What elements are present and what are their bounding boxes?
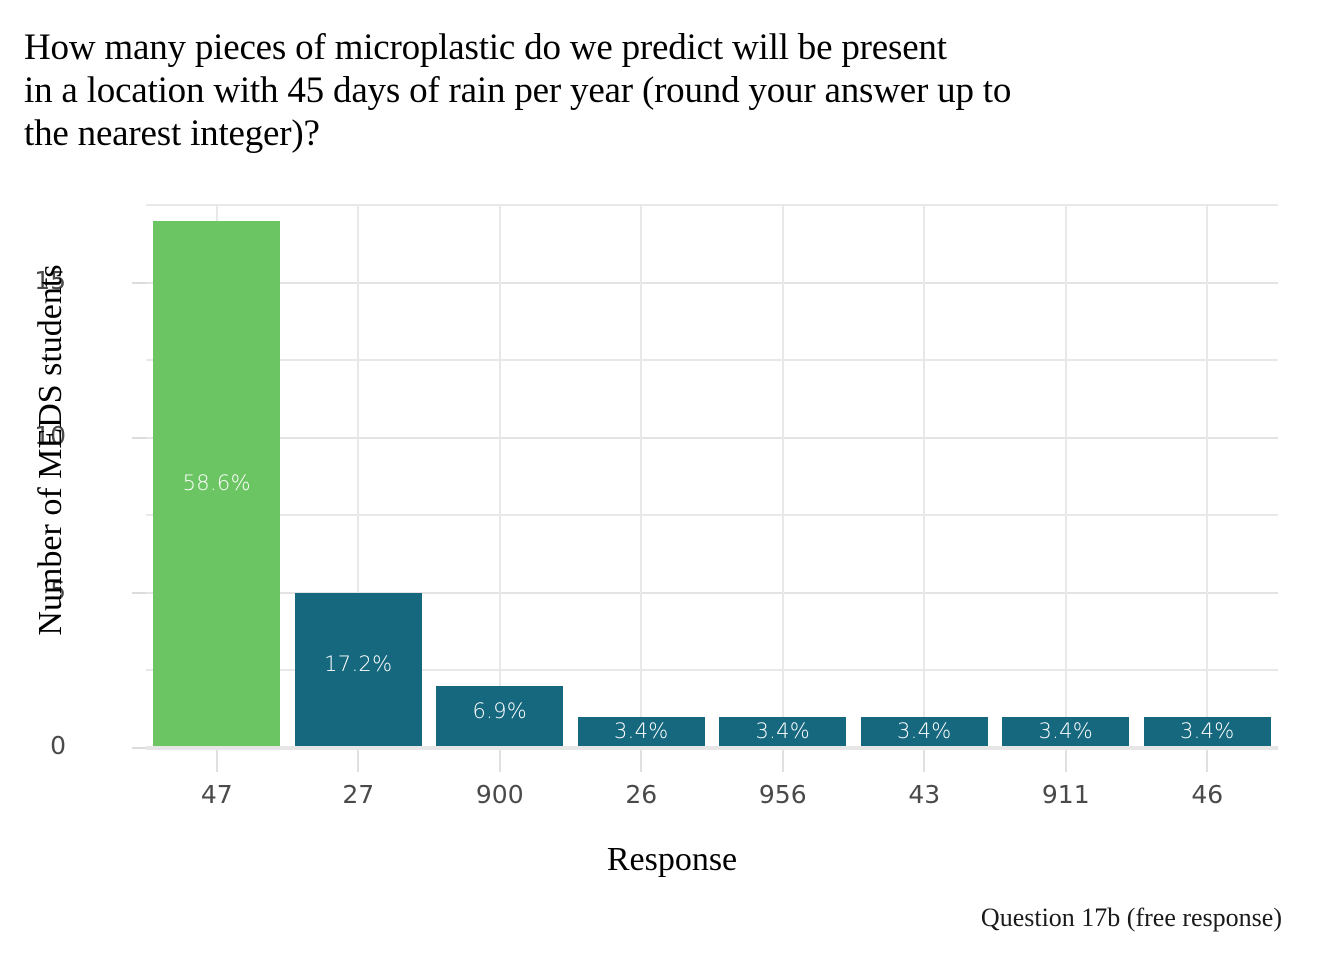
- bar[interactable]: 58.6%: [153, 221, 280, 748]
- y-axis-tick-mark: [132, 592, 146, 594]
- bar-value-label: 6.9%: [436, 699, 563, 723]
- gridline-horizontal: [146, 204, 1278, 206]
- plot-area: 58.6%17.2%6.9%3.4%3.4%3.4%3.4%3.4%: [146, 205, 1278, 748]
- y-axis-title: Number of MEDS students: [32, 210, 70, 690]
- bar[interactable]: 3.4%: [861, 717, 988, 748]
- gridline-vertical: [499, 205, 501, 748]
- x-axis-tick-label: 26: [571, 780, 711, 809]
- y-axis-tick-mark: [132, 437, 146, 439]
- x-axis-tick-label: 46: [1137, 780, 1277, 809]
- gridline-horizontal: [146, 282, 1278, 284]
- axis-baseline: [146, 746, 1278, 750]
- bar[interactable]: 3.4%: [578, 717, 705, 748]
- x-axis-tick-label: 27: [288, 780, 428, 809]
- x-axis-tick-label: 47: [147, 780, 287, 809]
- x-axis-tick-label: 900: [430, 780, 570, 809]
- bar-value-label: 3.4%: [578, 719, 705, 743]
- x-axis-tick-mark: [782, 750, 784, 772]
- gridline-horizontal: [146, 514, 1278, 516]
- bar[interactable]: 3.4%: [719, 717, 846, 748]
- chart-title: How many pieces of microplastic do we pr…: [24, 26, 1344, 155]
- gridline-horizontal: [146, 437, 1278, 439]
- bar-value-label: 3.4%: [861, 719, 988, 743]
- bar-value-label: 3.4%: [719, 719, 846, 743]
- y-axis-tick-mark: [132, 282, 146, 284]
- bar[interactable]: 6.9%: [436, 686, 563, 748]
- x-axis-tick-mark: [1206, 750, 1208, 772]
- bar-value-label: 17.2%: [295, 652, 422, 676]
- x-axis-tick-mark: [499, 750, 501, 772]
- figure-caption: Question 17b (free response): [981, 903, 1282, 933]
- bar[interactable]: 3.4%: [1002, 717, 1129, 748]
- x-axis-tick-mark: [216, 750, 218, 772]
- bar[interactable]: 3.4%: [1144, 717, 1271, 748]
- x-axis-tick-label: 43: [854, 780, 994, 809]
- gridline-vertical: [1065, 205, 1067, 748]
- x-axis-tick-mark: [923, 750, 925, 772]
- gridline-vertical: [782, 205, 784, 748]
- gridline-vertical: [923, 205, 925, 748]
- x-axis-tick-mark: [640, 750, 642, 772]
- x-axis-title: Response: [0, 841, 1344, 879]
- bar[interactable]: 17.2%: [295, 593, 422, 748]
- y-axis-tick-mark: [132, 747, 146, 749]
- bar-value-label: 3.4%: [1144, 719, 1271, 743]
- gridline-vertical: [1206, 205, 1208, 748]
- x-axis-tick-label: 911: [996, 780, 1136, 809]
- y-axis-tick-label: 0: [0, 731, 66, 760]
- x-axis-tick-mark: [357, 750, 359, 772]
- bar-value-label: 3.4%: [1002, 719, 1129, 743]
- gridline-horizontal: [146, 359, 1278, 361]
- gridline-vertical: [640, 205, 642, 748]
- bar-value-label: 58.6%: [153, 471, 280, 495]
- x-axis-tick-label: 956: [713, 780, 853, 809]
- x-axis-tick-mark: [1065, 750, 1067, 772]
